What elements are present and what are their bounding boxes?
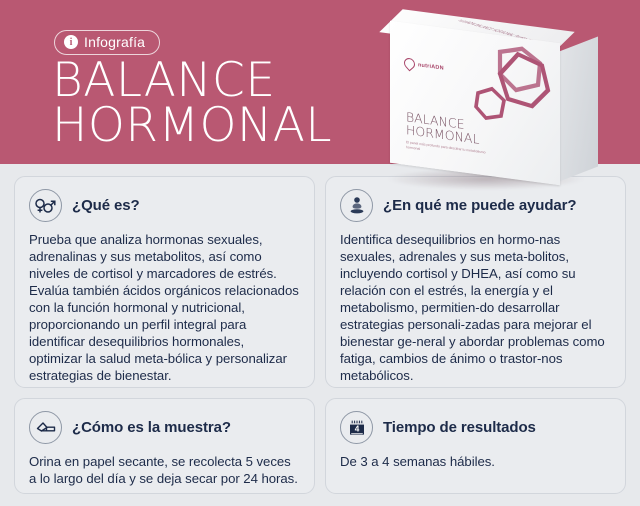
infographic-page: i Infografía BALANCE HORMONAL nutriADN B… <box>0 0 640 506</box>
card-como-es-la-muestra: ¿Cómo es la muestra? Orina en papel seca… <box>14 398 315 494</box>
card-body-text: Prueba que analiza hormonas sexuales, ad… <box>29 231 300 384</box>
cards-grid: ¿Qué es? Prueba que analiza hormonas sex… <box>0 164 640 506</box>
card-title: ¿Cómo es la muestra? <box>72 419 231 436</box>
calendar-icon: 4 <box>340 411 373 444</box>
person-meditating-icon <box>340 189 373 222</box>
card-header: ¿En qué me puede ayudar? <box>340 189 611 222</box>
page-title-line2: HORMONAL <box>52 103 332 148</box>
card-tiempo-de-resultados: 4 Tiempo de resultados De 3 a 4 semanas … <box>325 398 626 494</box>
card-header: ¿Cómo es la muestra? <box>29 411 300 444</box>
sample-collection-icon <box>29 411 62 444</box>
calendar-day-number: 4 <box>354 424 359 433</box>
product-box-image: nutriADN BALANCE HORMONAL Prueba metaból… <box>358 18 618 193</box>
card-body-text: Identifica desequilibrios en hormo-nas s… <box>340 231 611 384</box>
box-brand-name: nutriADN <box>418 62 444 71</box>
gender-symbols-icon <box>29 189 62 222</box>
card-en-que-me-puede-ayudar: ¿En qué me puede ayudar? Identifica dese… <box>325 176 626 388</box>
card-title: ¿En qué me puede ayudar? <box>383 197 576 214</box>
card-header: ¿Qué es? <box>29 189 300 222</box>
card-header: 4 Tiempo de resultados <box>340 411 611 444</box>
card-body-text: De 3 a 4 semanas hábiles. <box>340 453 611 470</box>
page-title: BALANCE HORMONAL <box>52 58 332 148</box>
infografia-badge: i Infografía <box>54 30 160 55</box>
badge-label: Infografía <box>84 34 145 50</box>
card-body-text: Orina en papel secante, se recolecta 5 v… <box>29 453 300 487</box>
info-icon: i <box>64 35 78 49</box>
card-title: ¿Qué es? <box>72 197 140 214</box>
card-que-es: ¿Qué es? Prueba que analiza hormonas sex… <box>14 176 315 388</box>
card-title: Tiempo de resultados <box>383 419 536 436</box>
